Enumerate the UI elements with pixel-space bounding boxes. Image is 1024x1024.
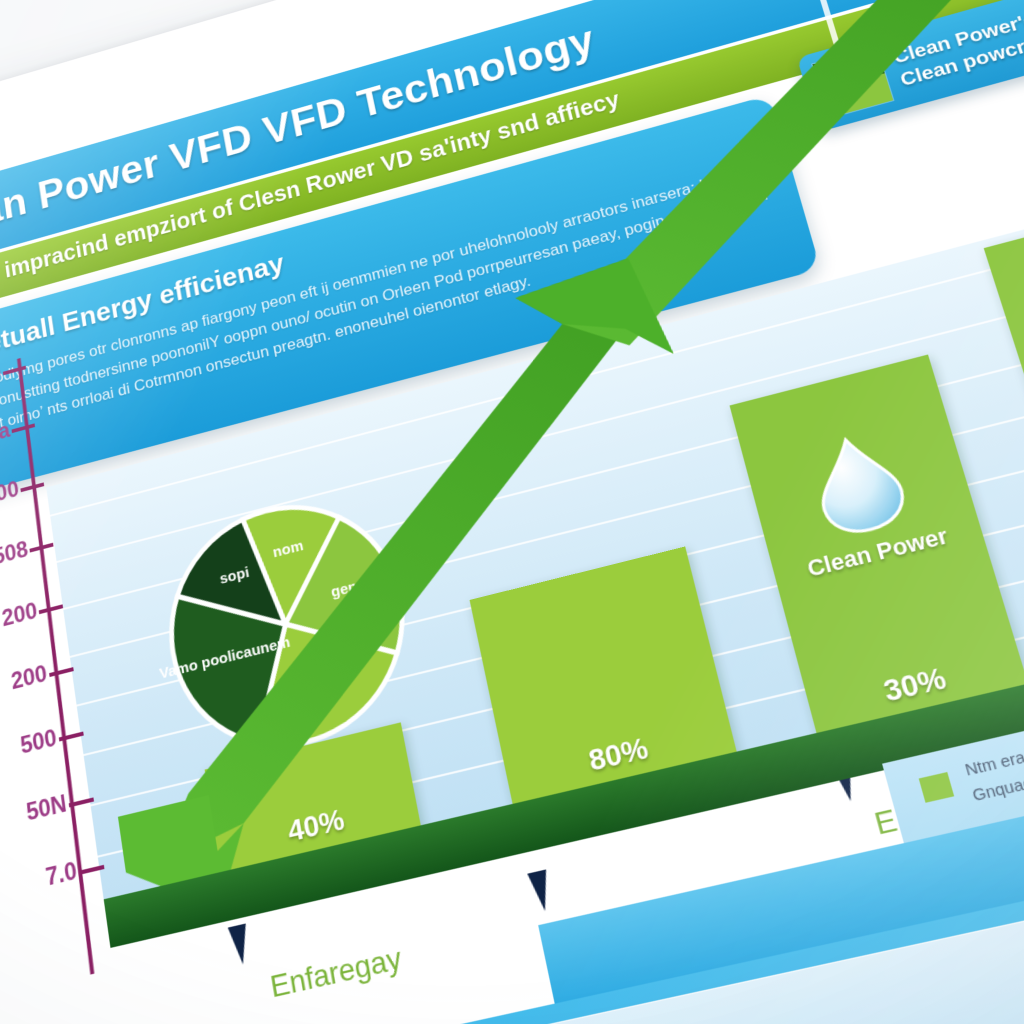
y-axis-tick-label: 500 xyxy=(0,476,20,523)
y-axis-tick-label: 508 xyxy=(0,536,30,583)
axis-pointer xyxy=(228,924,252,967)
y-axis-tick xyxy=(39,604,63,614)
x-axis-label: Enfaregay xyxy=(268,941,404,1005)
infographic-page: Clean Power VFD VFD Technology Teelivo i… xyxy=(0,0,1024,1024)
y-axis-tick-label: 200 xyxy=(0,598,39,646)
y-axis-tick-label: 7.0 xyxy=(0,857,79,907)
axis-pointer xyxy=(527,869,554,913)
legend-swatches xyxy=(811,45,894,119)
infographic-sheet-wrapper: Clean Power VFD VFD Technology Teelivo i… xyxy=(0,0,1024,1024)
water-drop-icon xyxy=(800,425,918,548)
photo-scene: Clean Power VFD VFD Technology Teelivo i… xyxy=(0,0,1024,1024)
y-axis-tick-label: 200 xyxy=(0,660,48,708)
y-axis-tick-label: 500 xyxy=(0,724,58,773)
y-axis-tick-label: 50N xyxy=(0,790,68,839)
note-swatch-icon xyxy=(919,772,954,803)
infographic-sheet: Clean Power VFD VFD Technology Teelivo i… xyxy=(0,0,1024,1024)
y-axis-tick xyxy=(49,667,74,677)
